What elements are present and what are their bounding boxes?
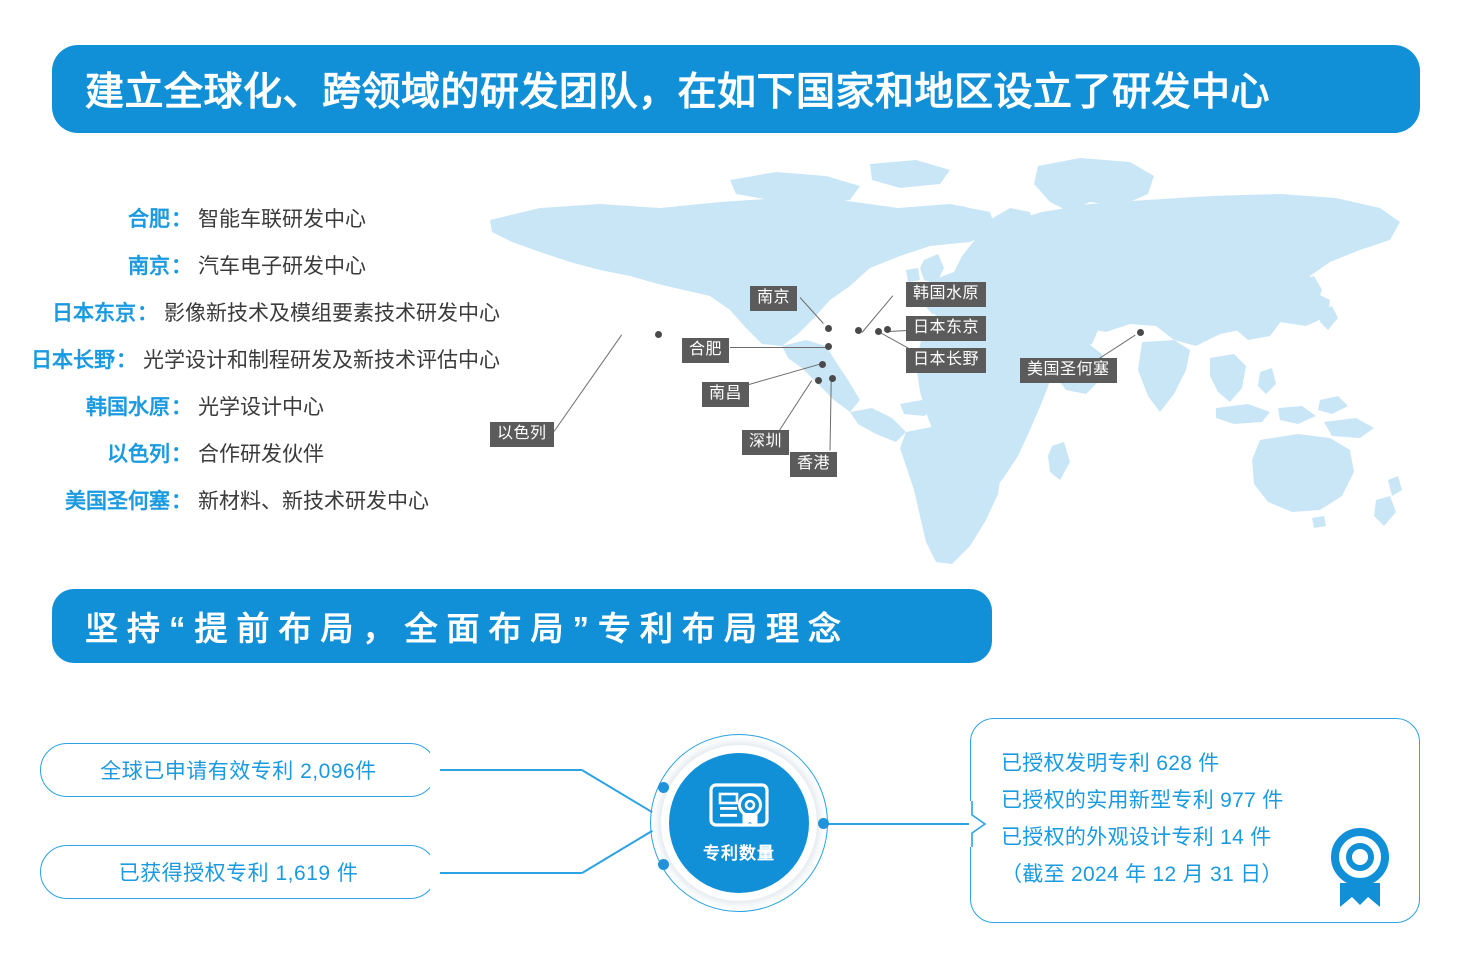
breakdown-line: （截至 2024 年 12 月 31 日）: [1001, 856, 1284, 893]
nagano-point: [875, 328, 882, 335]
rnd-center-label: 以色列: [30, 438, 170, 468]
applied-pill-right-cap: [430, 750, 446, 790]
rnd-center-colon: ：: [170, 250, 198, 280]
connector-granted-diagonal: [582, 830, 653, 874]
patent-granted-text: 已获得授权专利 1,619 件: [119, 857, 359, 887]
hub-label: 专利数量: [703, 839, 775, 864]
panel-left-notch: [968, 801, 990, 847]
rnd-center-desc: 智能车联研发中心: [198, 203, 366, 233]
rnd-center-desc: 合作研发伙伴: [198, 438, 324, 468]
breakdown-line: 已授权的外观设计专利 14 件: [1001, 819, 1284, 856]
connector-applied-diagonal: [582, 769, 653, 813]
hub-connector-dot-right: [818, 818, 829, 829]
patent-applied-pill: 全球已申请有效专利 2,096件: [40, 743, 437, 797]
patent-diagram: 全球已申请有效专利 2,096件 已获得授权专利 1,619 件 专利数量: [0, 700, 1459, 960]
hefei-point: [825, 343, 832, 350]
patent-applied-text: 全球已申请有效专利 2,096件: [100, 755, 376, 785]
patent-banner-text: 坚持“提前布局，全面布局”专利布局理念: [85, 602, 850, 650]
nanjing-point: [825, 325, 832, 332]
nanchang-point: [819, 361, 826, 368]
breakdown-line: 已授权发明专利 628 件: [1001, 745, 1284, 782]
rnd-center-colon: ：: [170, 485, 198, 515]
map-label-nagano: 日本长野: [906, 348, 986, 373]
map-label-suwon: 韩国水原: [906, 282, 986, 307]
infographic-page: 建立全球化、跨领域的研发团队，在如下国家和地区设立了研发中心 合肥 ： 智能车联…: [0, 0, 1459, 973]
medal-icon: [1326, 827, 1394, 912]
rnd-center-label: 南京: [30, 250, 170, 280]
rnd-center-desc: 汽车电子研发中心: [198, 250, 366, 280]
granted-pill-right-cap: [430, 852, 446, 892]
hub-connector-dot-top-left: [658, 782, 669, 793]
rnd-center-desc: 新材料、新技术研发中心: [198, 485, 429, 515]
israel-point: [655, 331, 662, 338]
suwon-point: [855, 327, 862, 334]
hub-connector-dot-bottom-left: [658, 859, 669, 870]
connector-hub-to-panel: [823, 823, 971, 825]
rnd-center-colon: ：: [170, 203, 198, 233]
certificate-icon: [708, 782, 770, 835]
patent-banner: 坚持“提前布局，全面布局”专利布局理念: [52, 589, 992, 663]
patent-count-hub: 专利数量: [669, 753, 809, 893]
shenzhen-point: [815, 377, 822, 384]
connector-applied-horizontal: [437, 769, 582, 771]
rnd-center-label: 韩国水原: [30, 391, 170, 421]
rnd-center-label: 日本长野: [30, 344, 115, 374]
rnd-banner-text: 建立全球化、跨领域的研发团队，在如下国家和地区设立了研发中心: [85, 61, 1270, 117]
patent-granted-pill: 已获得授权专利 1,619 件: [40, 845, 437, 899]
map-label-nanchang: 南昌: [702, 382, 749, 407]
patent-breakdown-panel: 已授权发明专利 628 件 已授权的实用新型专利 977 件 已授权的外观设计专…: [970, 718, 1420, 923]
rnd-center-label: 日本东京: [30, 297, 136, 327]
breakdown-line: 已授权的实用新型专利 977 件: [1001, 782, 1284, 819]
rnd-center-colon: ：: [115, 344, 143, 374]
connector-granted-horizontal: [437, 872, 582, 874]
rnd-center-colon: ：: [170, 391, 198, 421]
rnd-banner: 建立全球化、跨领域的研发团队，在如下国家和地区设立了研发中心: [52, 45, 1420, 133]
tokyo-point: [884, 326, 891, 333]
rnd-center-colon: ：: [170, 438, 198, 468]
map-label-sanjose: 美国圣何塞: [1020, 358, 1117, 383]
patent-breakdown-lines: 已授权发明专利 628 件 已授权的实用新型专利 977 件 已授权的外观设计专…: [1001, 745, 1284, 893]
leader-line-hefei: [730, 347, 830, 348]
map-label-shenzhen: 深圳: [742, 430, 789, 455]
rnd-center-label: 合肥: [30, 203, 170, 233]
map-label-hongkong: 香港: [790, 452, 837, 477]
world-map: 以色列 合肥 南京 南昌 深圳 香港 韩国水原 日本东京 日本长野 美国圣何塞: [430, 150, 1450, 570]
rnd-center-colon: ：: [136, 297, 164, 327]
map-label-nanjing: 南京: [750, 286, 797, 311]
map-label-israel: 以色列: [490, 422, 554, 447]
rnd-center-label: 美国圣何塞: [30, 485, 170, 515]
map-label-hefei: 合肥: [682, 338, 729, 363]
hongkong-point: [829, 375, 836, 382]
rnd-center-desc: 光学设计中心: [198, 391, 324, 421]
sanjose-point: [1137, 329, 1144, 336]
map-label-tokyo: 日本东京: [906, 316, 986, 341]
